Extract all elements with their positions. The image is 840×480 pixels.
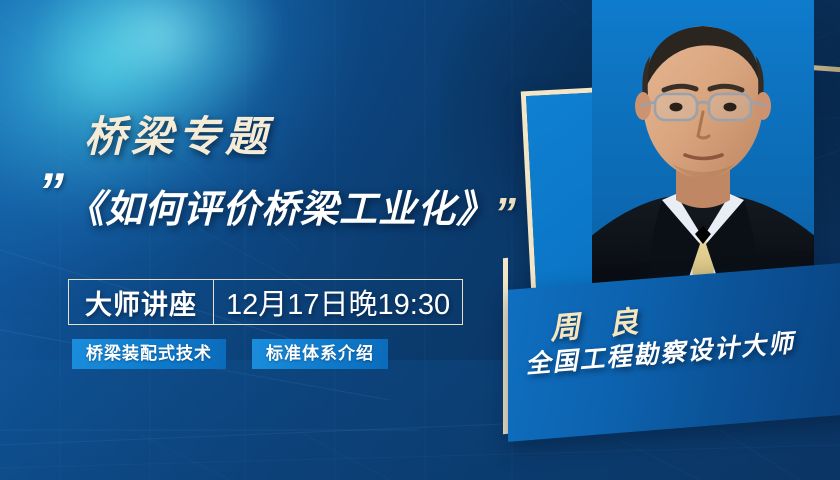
quote-open-icon: ” [38,166,60,218]
topic-tag: 桥梁装配式技术 [72,339,226,369]
topic-tag-list: 桥梁装配式技术 标准体系介绍 [72,339,388,369]
lecture-datetime: 12月17日晚19:30 [214,280,462,324]
avatar [592,0,814,310]
lecture-type-label: 大师讲座 [69,280,213,324]
poster-canvas: 桥梁专题 ” 《如何评价桥梁工业化》 ” 大师讲座 12月17日晚19:30 桥… [0,0,840,480]
topic-tag: 标准体系介绍 [252,339,388,369]
lecture-info-bar: 大师讲座 12月17日晚19:30 [68,279,463,325]
page-title: 桥梁专题 [84,103,272,164]
page-subtitle: 《如何评价桥梁工业化》 [66,178,495,233]
quote-close-icon: ” [494,192,512,236]
